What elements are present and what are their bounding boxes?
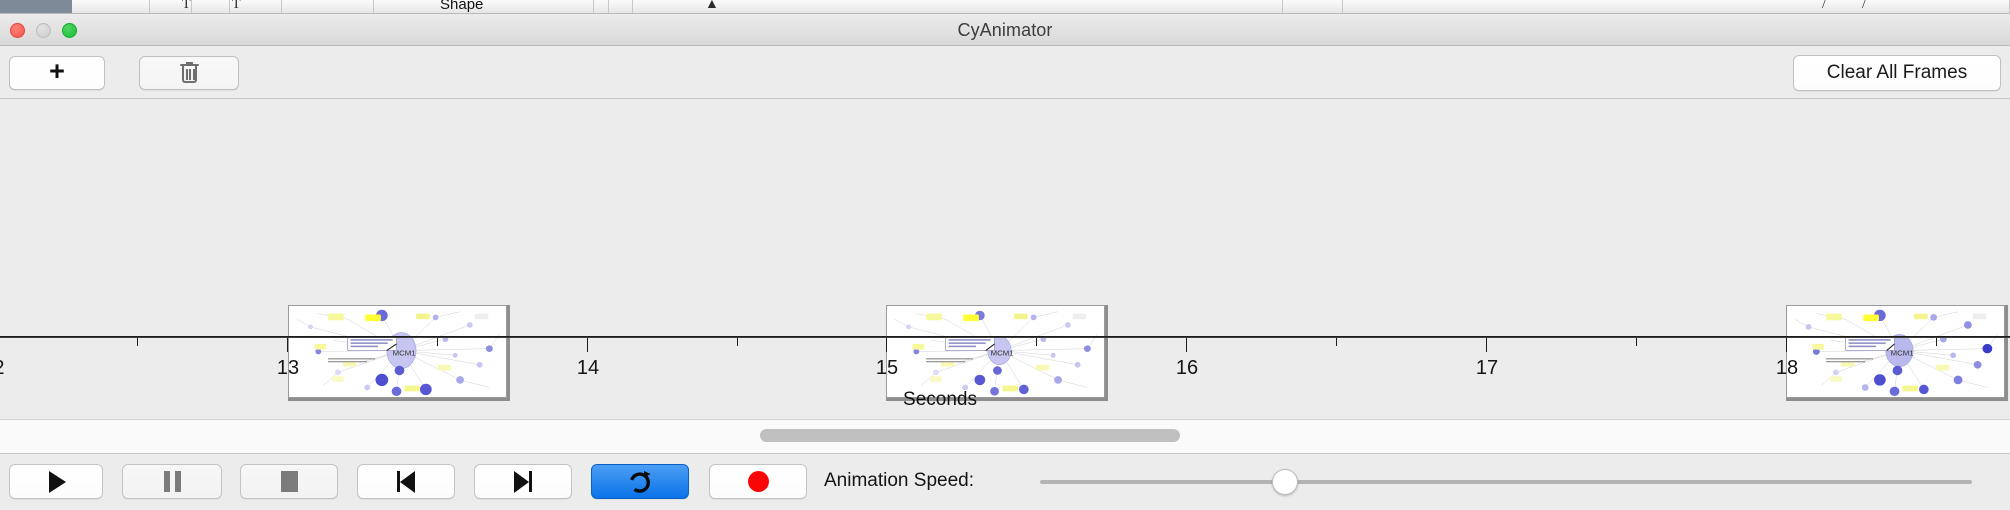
frame-thumbnail-image: MCM1 [886,305,1105,398]
background-selected-cell [0,0,72,13]
playback-control-bar: Animation Speed: [0,453,2010,509]
loop-icon [627,469,653,495]
axis-title: Seconds [0,389,2010,411]
axis-tick-major [1186,338,1187,352]
background-column-label-shape: Shape [440,0,483,13]
timeline-axis-line-shadow [0,337,2010,338]
frame-thumbnail-image: MCM1 [1786,305,2005,398]
axis-tick-minor [437,338,438,346]
previous-frame-button[interactable] [357,464,455,499]
axis-tick-label: 16 [1176,357,1198,380]
loop-button[interactable] [591,464,689,499]
axis-tick-minor [1636,338,1637,346]
pause-icon [164,471,181,492]
stop-icon [281,471,298,492]
background-glyph-slash1: / [1822,0,1826,13]
axis-tick-minor [137,338,138,346]
window-title: CyAnimator [0,20,2010,41]
window-titlebar[interactable]: CyAnimator [0,14,2010,46]
axis-tick-label: 17 [1476,357,1498,380]
axis-tick-major [587,338,588,352]
timeline-frame-thumbnail[interactable]: MCM1 [288,305,510,401]
background-column-headers [72,0,2010,13]
axis-tick-minor [1036,338,1037,346]
axis-tick-major [287,338,288,352]
frame-thumbnail-image: MCM1 [288,305,507,398]
add-frame-button[interactable]: + [9,56,105,90]
play-icon [49,471,66,493]
animation-speed-label: Animation Speed: [824,470,974,492]
network-graph-thumbnail: MCM1 [289,306,506,397]
network-graph-thumbnail: MCM1 [1787,306,2004,397]
axis-tick-minor [1936,338,1937,346]
axis-tick-label: 18 [1776,357,1798,380]
record-icon [748,471,769,492]
svg-text:MCM1: MCM1 [991,348,1014,357]
slider-track[interactable] [1040,480,1972,484]
axis-tick-label: 13 [277,357,299,380]
axis-tick-minor [737,338,738,346]
background-glyph-t1: T [182,0,191,13]
slider-thumb[interactable] [1272,469,1298,495]
frames-toolbar: + Clear All Frames [0,46,2010,99]
clear-all-frames-label: Clear All Frames [1827,62,1967,84]
skip-next-icon [514,471,532,493]
axis-tick-minor [1336,338,1337,346]
svg-text:MCM1: MCM1 [1891,348,1914,357]
delete-frame-button[interactable] [139,56,239,90]
timeline-frame-thumbnail[interactable]: MCM1 [886,305,1108,401]
axis-tick-label: 15 [876,357,898,380]
plus-icon: + [49,58,65,85]
record-button[interactable] [709,464,807,499]
background-glyph-bar: ▲ [705,0,719,13]
cyanimator-window: CyAnimator + Clear All Frames [0,13,2010,510]
skip-previous-icon [397,471,415,493]
background-glyph-slash2: / [1862,0,1866,13]
axis-tick-major [886,338,887,352]
timeline-panel[interactable]: MCM1 [0,99,2010,419]
axis-tick-major [1786,338,1787,352]
scrollbar-thumb[interactable] [760,429,1180,442]
timeline-horizontal-scrollbar[interactable] [0,419,2010,453]
trash-icon [180,62,199,84]
clear-all-frames-button[interactable]: Clear All Frames [1793,55,2001,91]
play-button[interactable] [9,464,103,499]
network-graph-thumbnail: MCM1 [887,306,1104,397]
pause-button[interactable] [122,464,222,499]
next-frame-button[interactable] [474,464,572,499]
background-window-strip: T T Shape ▲ / / [0,0,2010,13]
background-glyph-t2: T [232,0,241,13]
axis-tick-label: 2 [0,357,4,380]
svg-text:MCM1: MCM1 [393,348,416,357]
axis-tick-label: 14 [577,357,599,380]
axis-tick-major [1486,338,1487,352]
animation-speed-slider[interactable] [1040,464,1972,499]
stop-button[interactable] [240,464,338,499]
timeline-frame-thumbnail[interactable]: MCM1 [1786,305,2008,401]
